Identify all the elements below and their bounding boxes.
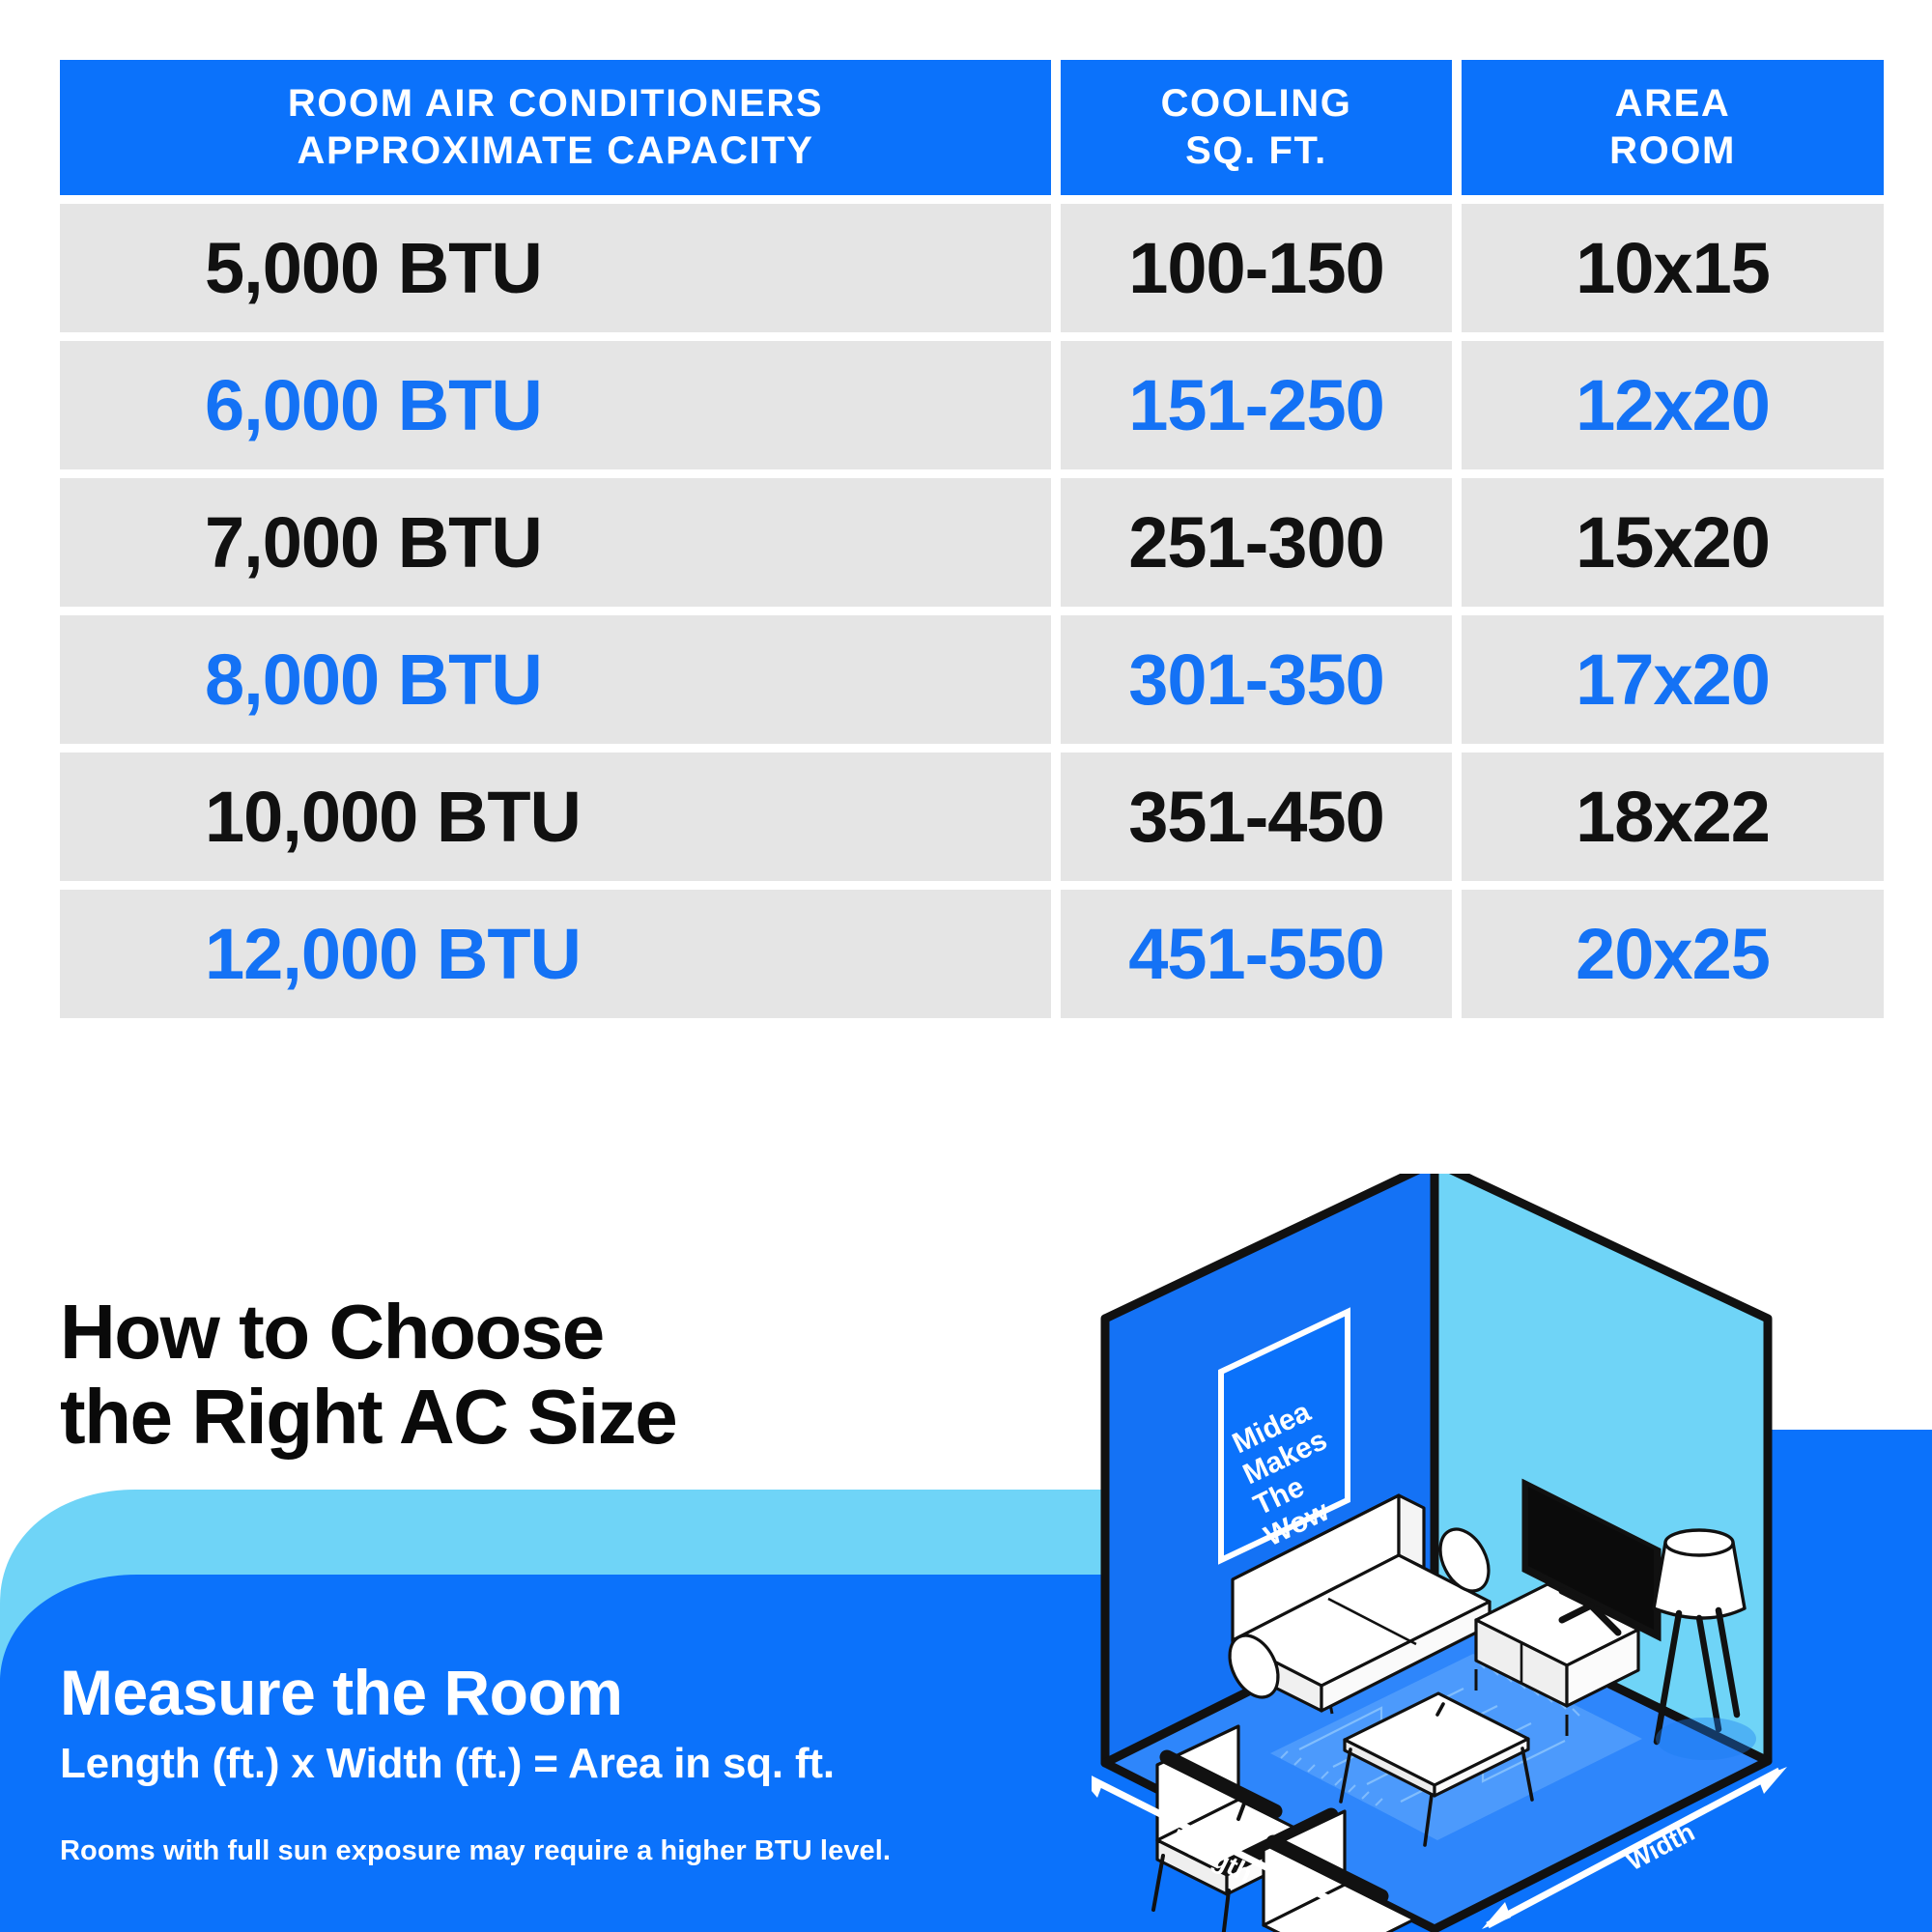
header-area-line1: AREA: [1615, 80, 1731, 128]
cell-area: 17x20: [1462, 615, 1884, 744]
table-row: 10,000 BTU 351-450 18x22: [60, 753, 1884, 881]
measure-formula: Length (ft.) x Width (ft.) = Area in sq.…: [60, 1740, 835, 1788]
btu-sizing-table: ROOM AIR CONDITIONERS APPROXIMATE CAPACI…: [60, 60, 1884, 1018]
page-title: How to Choose the Right AC Size: [60, 1290, 676, 1460]
cell-area: 18x22: [1462, 753, 1884, 881]
table-row: 12,000 BTU 451-550 20x25: [60, 890, 1884, 1018]
cell-cooling: 151-250: [1061, 341, 1452, 469]
cell-capacity: 6,000 BTU: [60, 341, 1051, 469]
header-cell-area: AREA ROOM: [1462, 60, 1884, 195]
cell-capacity: 8,000 BTU: [60, 615, 1051, 744]
header-area-line2: ROOM: [1609, 128, 1736, 175]
cell-area: 10x15: [1462, 204, 1884, 332]
table-row: 7,000 BTU 251-300 15x20: [60, 478, 1884, 607]
cell-capacity: 12,000 BTU: [60, 890, 1051, 1018]
isometric-room-illustration: Midea Makes The Wow: [1092, 1174, 1932, 1932]
cell-capacity: 10,000 BTU: [60, 753, 1051, 881]
cell-cooling: 451-550: [1061, 890, 1452, 1018]
headline-line1: How to Choose: [60, 1290, 676, 1375]
infographic-root: ROOM AIR CONDITIONERS APPROXIMATE CAPACI…: [0, 0, 1932, 1932]
header-cell-cooling: COOLING SQ. FT.: [1061, 60, 1452, 195]
measure-title: Measure the Room: [60, 1660, 835, 1726]
header-cooling-line2: SQ. FT.: [1185, 128, 1327, 175]
cell-capacity: 7,000 BTU: [60, 478, 1051, 607]
header-capacity-line2: APPROXIMATE CAPACITY: [298, 128, 814, 175]
cell-area: 12x20: [1462, 341, 1884, 469]
footnote-text: Rooms with full sun exposure may require…: [60, 1835, 891, 1867]
headline-line2: the Right AC Size: [60, 1375, 676, 1460]
header-cooling-line1: COOLING: [1161, 80, 1352, 128]
cell-cooling: 351-450: [1061, 753, 1452, 881]
cell-area: 15x20: [1462, 478, 1884, 607]
cell-cooling: 251-300: [1061, 478, 1452, 607]
header-capacity-line1: ROOM AIR CONDITIONERS: [288, 80, 823, 128]
cell-cooling: 100-150: [1061, 204, 1452, 332]
table-row: 8,000 BTU 301-350 17x20: [60, 615, 1884, 744]
table-row: 6,000 BTU 151-250 12x20: [60, 341, 1884, 469]
cell-area: 20x25: [1462, 890, 1884, 1018]
table-header-row: ROOM AIR CONDITIONERS APPROXIMATE CAPACI…: [60, 60, 1884, 195]
table-row: 5,000 BTU 100-150 10x15: [60, 204, 1884, 332]
cell-cooling: 301-350: [1061, 615, 1452, 744]
cell-capacity: 5,000 BTU: [60, 204, 1051, 332]
measure-room-block: Measure the Room Length (ft.) x Width (f…: [60, 1660, 835, 1788]
header-cell-capacity: ROOM AIR CONDITIONERS APPROXIMATE CAPACI…: [60, 60, 1051, 195]
